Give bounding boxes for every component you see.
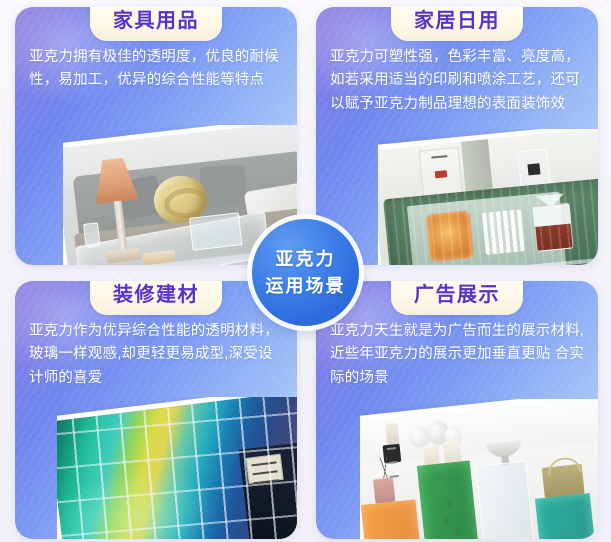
card-title: 家居日用 (413, 10, 501, 33)
card-description: 亚克力作为优异综合性能的透明材料，玻璃一样观感,却更轻更易成型,深受设计师的喜爱 (29, 320, 285, 390)
photo-frame-display-pedestals (360, 399, 598, 539)
card-title-pill: 广告展示 (391, 281, 523, 315)
card-title: 家具用品 (112, 10, 200, 33)
iridescent-glass-facade-photo (57, 397, 297, 539)
center-badge-line-2: 运用场景 (266, 273, 346, 299)
photo-frame-glass-facade (57, 397, 297, 539)
green-acrylic-kitchen-cabinet-photo (378, 129, 598, 265)
card-title-pill: 装修建材 (90, 281, 222, 315)
photo-frame-kitchen-cabinet (378, 129, 598, 265)
acrylic-display-pedestals-photo (360, 399, 598, 539)
card-description: 亚克力拥有极佳的透明度，优良的耐候性，易加工，优异的综合性能等特点 (29, 46, 285, 93)
card-photo-area (360, 399, 598, 539)
card-photo-area (378, 129, 598, 265)
card-title-pill: 家居日用 (391, 7, 523, 41)
card-photo-area (57, 397, 297, 539)
card-household[interactable]: 亚克力可塑性强，色彩丰富、亮度高，如若采用适当的印刷和喷涂工艺，还可以赋予亚克力… (316, 7, 598, 265)
card-advertising[interactable]: 亚克力天生就是为广告而生的展示材料,近些年亚克力的展示更加垂直更贴 合实际的场景… (316, 281, 598, 539)
center-badge-line-1: 亚克力 (276, 246, 336, 272)
center-badge: 亚克力 运用场景 (252, 219, 359, 326)
card-furniture[interactable]: 亚克力拥有极佳的透明度，优良的耐候性，易加工，优异的综合性能等特点 家具用品 (15, 7, 297, 265)
card-title: 装修建材 (112, 284, 200, 307)
card-title: 广告展示 (413, 284, 501, 307)
card-building-materials[interactable]: 亚克力作为优异综合性能的透明材料，玻璃一样观感,却更轻更易成型,深受设计师的喜爱… (15, 281, 297, 539)
card-description: 亚克力天生就是为广告而生的展示材料,近些年亚克力的展示更加垂直更贴 合实际的场景 (330, 320, 586, 390)
card-title-pill: 家具用品 (90, 7, 222, 41)
card-description: 亚克力可塑性强，色彩丰富、亮度高，如若采用适当的印刷和喷涂工艺，还可以赋予亚克力… (330, 46, 586, 116)
infographic-board: 亚克力拥有极佳的透明度，优良的耐候性，易加工，优异的综合性能等特点 家具用品 (0, 0, 611, 542)
